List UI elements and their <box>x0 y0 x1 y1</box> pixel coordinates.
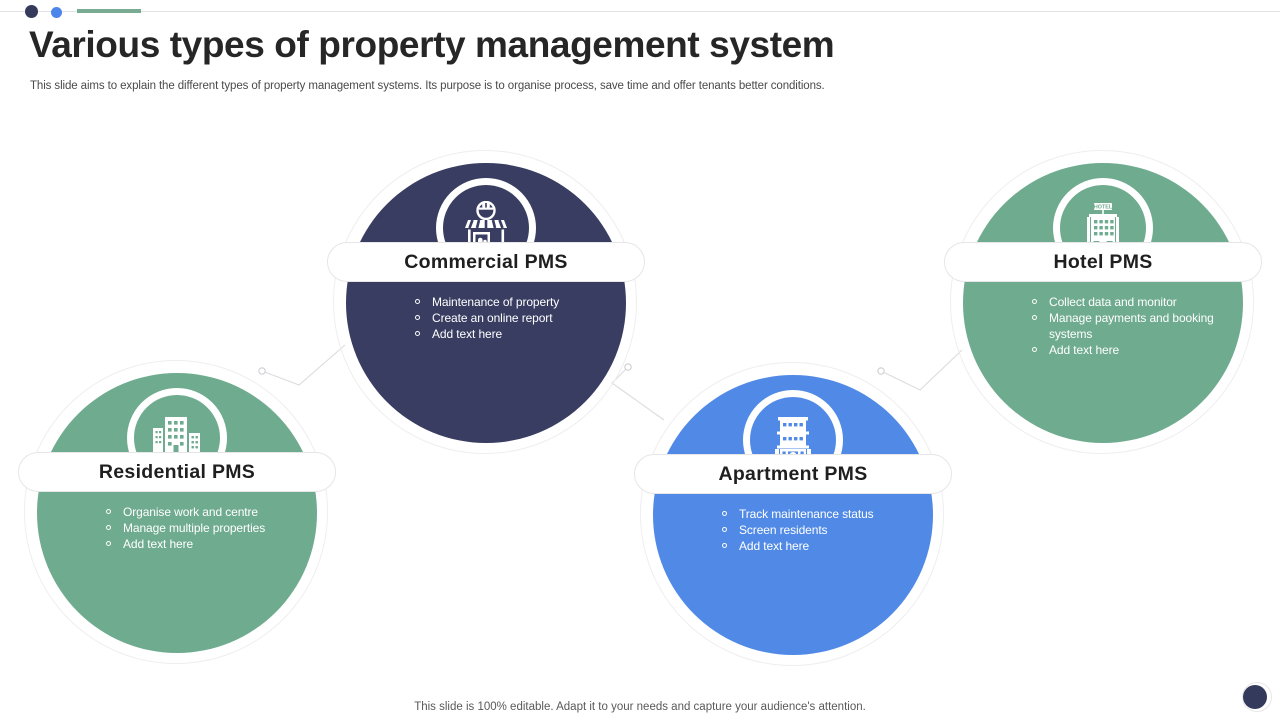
list-item: Maintenance of property <box>415 294 630 310</box>
node-bullet-list: Organise work and centre Manage multiple… <box>106 504 321 552</box>
list-item: Add text here <box>415 326 630 342</box>
node-commercial[interactable]: Commercial PMS Maintenance of property C… <box>333 150 639 456</box>
navy-dot-icon <box>25 5 38 18</box>
svg-text:HOTEL: HOTEL <box>1094 205 1113 211</box>
node-label: Apartment PMS <box>718 463 867 486</box>
corner-badge-icon <box>1242 682 1272 712</box>
node-hotel[interactable]: HOTEL Hotel PMS Colle <box>950 150 1256 456</box>
list-item: Screen residents <box>722 522 937 538</box>
node-label-pill[interactable]: Hotel PMS <box>944 242 1262 282</box>
list-item: Add text here <box>722 538 937 554</box>
list-item: Manage payments and booking systems <box>1032 310 1247 342</box>
list-item: Manage multiple properties <box>106 520 321 536</box>
list-item: Create an online report <box>415 310 630 326</box>
green-accent-bar <box>77 9 141 13</box>
page-title: Various types of property management sys… <box>29 24 834 66</box>
top-divider-line <box>0 11 1280 12</box>
node-label-pill[interactable]: Residential PMS <box>18 452 336 492</box>
node-label-pill[interactable]: Apartment PMS <box>634 454 952 494</box>
corner-badge-fill <box>1243 685 1267 709</box>
list-item: Add text here <box>1032 342 1247 358</box>
node-bullet-list: Maintenance of property Create an online… <box>415 294 630 342</box>
node-label-pill[interactable]: Commercial PMS <box>327 242 645 282</box>
node-label: Hotel PMS <box>1053 251 1152 274</box>
node-label: Residential PMS <box>99 461 255 484</box>
blue-dot-icon <box>51 7 62 18</box>
node-bullet-list: Collect data and monitor Manage payments… <box>1032 294 1247 358</box>
page-subtitle: This slide aims to explain the different… <box>30 80 825 92</box>
node-bullet-list: Track maintenance status Screen resident… <box>722 506 937 554</box>
footer-note: This slide is 100% editable. Adapt it to… <box>0 701 1280 713</box>
node-label: Commercial PMS <box>404 251 568 274</box>
top-decoration-bar <box>0 0 1280 22</box>
node-residential[interactable]: Residential PMS Organise work and centre… <box>24 360 330 666</box>
list-item: Track maintenance status <box>722 506 937 522</box>
list-item: Collect data and monitor <box>1032 294 1247 310</box>
node-apartment[interactable]: Apartment PMS Track maintenance status S… <box>640 362 946 668</box>
list-item: Organise work and centre <box>106 504 321 520</box>
list-item: Add text here <box>106 536 321 552</box>
